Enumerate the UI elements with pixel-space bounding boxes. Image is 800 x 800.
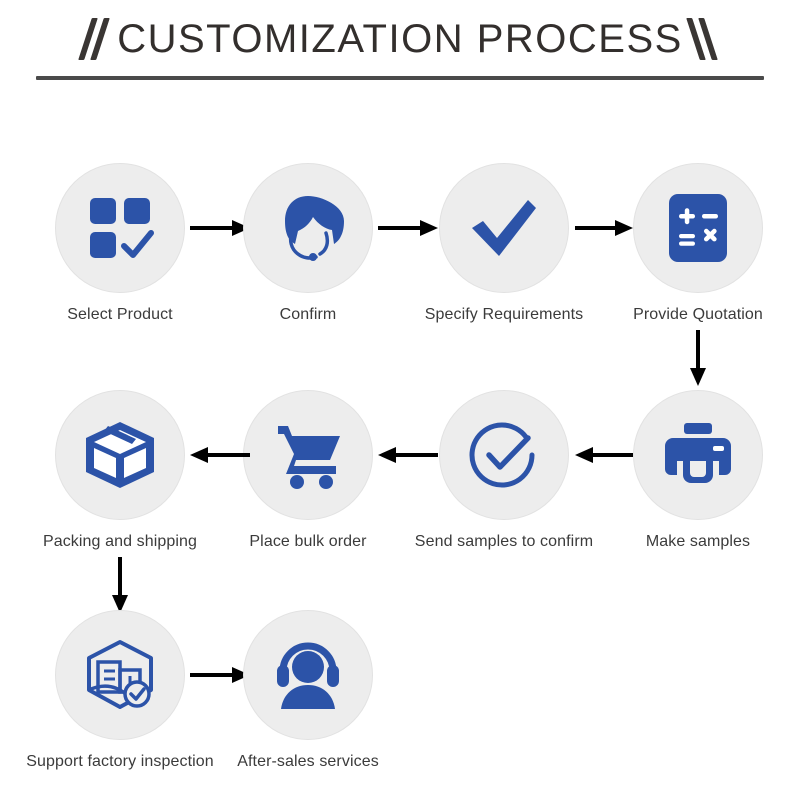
step-icon-bubble xyxy=(55,390,185,520)
checkmark-icon xyxy=(466,190,542,266)
step-support-factory-inspection[interactable]: Support factory inspection xyxy=(20,610,220,772)
step-label: Send samples to confirm xyxy=(404,531,604,552)
shopping-cart-icon xyxy=(270,420,346,490)
step-label: Provide Quotation xyxy=(598,304,798,325)
step-icon-bubble xyxy=(243,163,373,293)
double-chevron-left-icon xyxy=(689,16,719,62)
package-box-icon xyxy=(82,418,158,492)
double-chevron-right-icon xyxy=(81,16,111,62)
step-confirm[interactable]: Confirm xyxy=(208,163,408,325)
step-label: Packing and shipping xyxy=(20,531,220,552)
step-icon-bubble xyxy=(439,390,569,520)
header-divider xyxy=(36,76,764,80)
headset-person-icon xyxy=(269,639,347,711)
step-icon-bubble xyxy=(439,163,569,293)
grid-squares-check-icon xyxy=(84,192,156,264)
arrow-packing-to-inspection xyxy=(111,557,129,613)
step-icon-bubble xyxy=(55,610,185,740)
customization-process-infographic: CUSTOMIZATION PROCESS Select Product xyxy=(0,0,800,800)
support-agent-headset-icon xyxy=(268,188,348,268)
step-packing-and-shipping[interactable]: Packing and shipping xyxy=(20,390,220,552)
arrow-quotation-to-make-samples xyxy=(689,330,707,386)
step-label: Specify Requirements xyxy=(404,304,604,325)
step-label: Support factory inspection xyxy=(20,751,220,772)
step-send-samples-to-confirm[interactable]: Send samples to confirm xyxy=(404,390,604,552)
factory-inspection-badge-icon xyxy=(81,637,159,713)
step-icon-bubble xyxy=(243,390,373,520)
step-after-sales-services[interactable]: After-sales services xyxy=(208,610,408,772)
page-title: CUSTOMIZATION PROCESS xyxy=(117,19,683,59)
step-make-samples[interactable]: Make samples xyxy=(598,390,798,552)
step-label: Select Product xyxy=(20,304,220,325)
step-label: Place bulk order xyxy=(208,531,408,552)
step-icon-bubble xyxy=(633,163,763,293)
header: CUSTOMIZATION PROCESS xyxy=(0,0,800,90)
step-label: Make samples xyxy=(598,531,798,552)
step-icon-bubble xyxy=(243,610,373,740)
step-icon-bubble xyxy=(55,163,185,293)
step-label: After-sales services xyxy=(208,751,408,772)
calculator-icon xyxy=(663,191,733,265)
circle-check-icon xyxy=(466,417,542,493)
title-row: CUSTOMIZATION PROCESS xyxy=(0,8,800,70)
step-place-bulk-order[interactable]: Place bulk order xyxy=(208,390,408,552)
printer-icon xyxy=(661,420,735,490)
step-specify-requirements[interactable]: Specify Requirements xyxy=(404,163,604,325)
step-select-product[interactable]: Select Product xyxy=(20,163,220,325)
step-provide-quotation[interactable]: Provide Quotation xyxy=(598,163,798,325)
step-label: Confirm xyxy=(208,304,408,325)
step-icon-bubble xyxy=(633,390,763,520)
